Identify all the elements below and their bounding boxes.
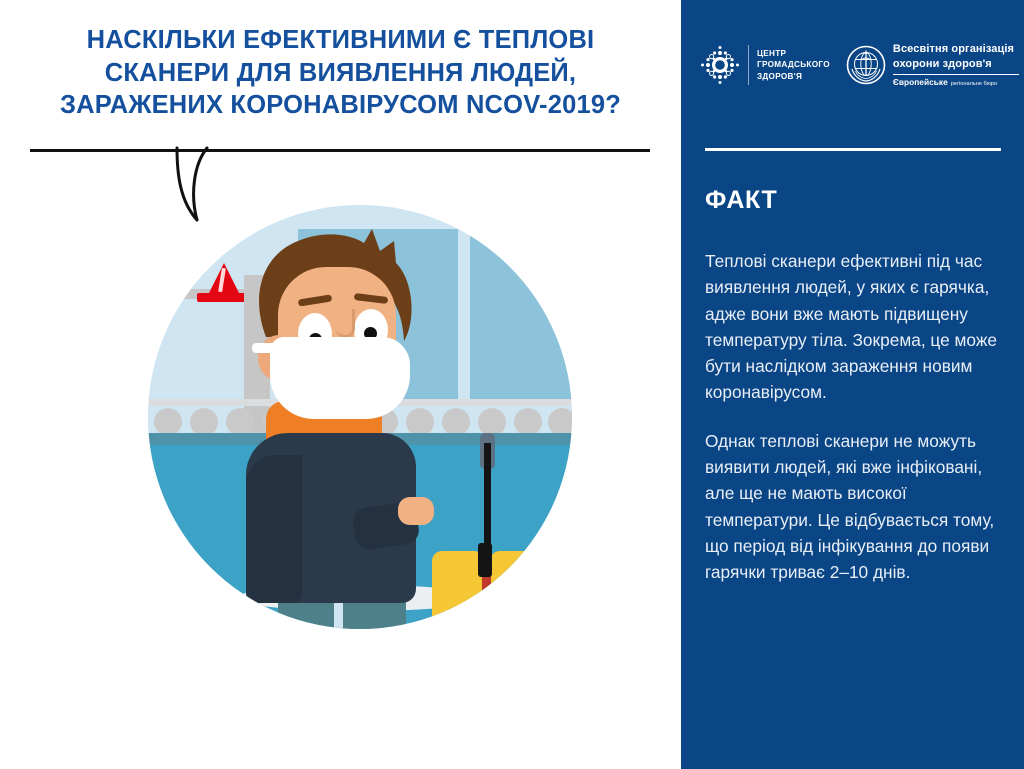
character-jacket-flap	[246, 455, 302, 603]
fact-paragraph-1: Теплові сканери ефективні під час виявле…	[705, 248, 997, 406]
infographic-page: НАСКІЛЬКИ ЕФЕКТИВНИМИ Є ТЕПЛОВІ СКАНЕРИ …	[0, 0, 1024, 769]
suitcase-shell-left	[432, 551, 484, 629]
fact-paragraph-2: Однак теплові сканери не можуть виявити …	[705, 428, 997, 586]
speech-bubble-rule	[30, 149, 650, 152]
page-title: НАСКІЛЬКИ ЕФЕКТИВНИМИ Є ТЕПЛОВІ СКАНЕРИ …	[0, 24, 681, 122]
left-illustration-panel: НАСКІЛЬКИ ЕФЕКТИВНИМИ Є ТЕПЛОВІ СКАНЕРИ …	[0, 0, 681, 769]
logo-divider	[748, 45, 749, 85]
public-health-center-logo-icon	[697, 42, 743, 88]
illustration-circle-background	[148, 205, 572, 629]
fact-body: Теплові сканери ефективні під час виявле…	[705, 248, 997, 585]
page-title-line-3: ЗАРАЖЕНИХ КОРОНАВІРУСОМ NCOV-2019?	[14, 89, 667, 122]
suitcase-shade-left	[432, 625, 484, 629]
cph-line-3: ЗДОРОВ'Я	[757, 71, 830, 82]
fact-heading: ФАКТ	[705, 186, 777, 215]
logo-bar: ЦЕНТР ГРОМАДСЬКОГО ЗДОРОВ'Я	[697, 36, 1013, 94]
suitcase-handle-lock	[478, 543, 492, 577]
rolling-suitcase	[432, 551, 544, 629]
page-title-line-1: НАСКІЛЬКИ ЕФЕКТИВНИМИ Є ТЕПЛОВІ	[14, 24, 667, 57]
who-sub-bold: Європейське	[893, 77, 948, 87]
logo-who: Всесвітня організація охорони здоров'я Є…	[846, 42, 1019, 87]
page-title-line-2: СКАНЕРИ ДЛЯ ВИЯВЛЕННЯ ЛЮДЕЙ,	[14, 57, 667, 90]
cph-line-1: ЦЕНТР	[757, 48, 830, 59]
who-line-1: Всесвітня організація	[893, 42, 1019, 56]
illustration	[148, 205, 572, 629]
who-logo-text: Всесвітня організація охорони здоров'я Є…	[893, 42, 1019, 87]
who-line-2: охорони здоров'я	[893, 57, 1019, 71]
who-sub-small: регіональне бюро	[951, 81, 997, 88]
who-emblem-icon	[846, 45, 886, 85]
character-hand	[398, 497, 434, 525]
face-mask-icon	[270, 337, 410, 419]
cph-line-2: ГРОМАДСЬКОГО	[757, 59, 830, 70]
logo-public-health-center: ЦЕНТР ГРОМАДСЬКОГО ЗДОРОВ'Я	[697, 42, 830, 88]
suitcase-shell-right	[490, 551, 544, 629]
right-fact-panel: ЦЕНТР ГРОМАДСЬКОГО ЗДОРОВ'Я	[681, 0, 1024, 769]
character-nose	[336, 309, 355, 338]
public-health-center-logo-text: ЦЕНТР ГРОМАДСЬКОГО ЗДОРОВ'Я	[757, 48, 830, 81]
who-regional-office: Європейське регіональне бюро	[893, 77, 1019, 88]
who-text-divider	[893, 74, 1019, 75]
section-divider	[705, 148, 1001, 151]
